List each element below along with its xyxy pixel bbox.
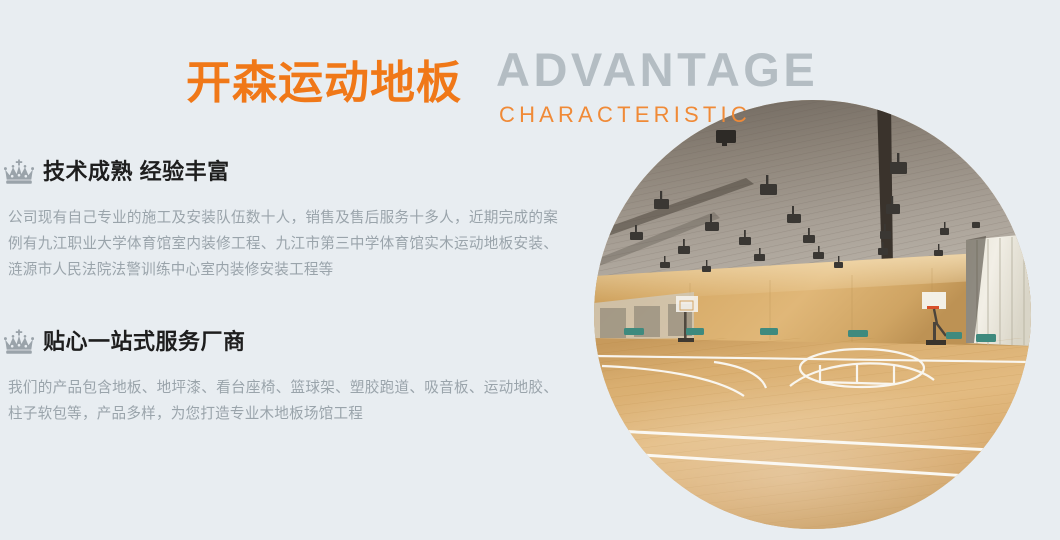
banner-header: ADVANTAGE CHARACTERISTIC 开森运动地板 (0, 22, 900, 117)
section-1-body: 公司现有自己专业的施工及安装队伍数十人，销售及售后服务十多人，近期完成的案例有九… (0, 205, 558, 283)
advantage-sections: 技术成熟 经验丰富 公司现有自己专业的施工及安装队伍数十人，销售及售后服务十多人… (0, 155, 575, 427)
section-2-title: 贴心一站式服务厂商 (43, 331, 246, 353)
indoor-basketball-court-photo (594, 100, 1031, 529)
advantage-section-2: 贴心一站式服务厂商 我们的产品包含地板、地坪漆、看台座椅、篮球架、塑胶跑道、吸音… (0, 325, 575, 427)
section-2-body: 我们的产品包含地板、地坪漆、看台座椅、篮球架、塑胶跑道、吸音板、运动地胶、柱子软… (0, 375, 558, 427)
section-1-title: 技术成熟 经验丰富 (43, 161, 230, 183)
advantage-banner: ADVANTAGE CHARACTERISTIC 开森运动地板 (0, 0, 1060, 540)
crown-icon (4, 159, 34, 185)
page-title: 开森运动地板 (186, 60, 462, 105)
subheadline-english: CHARACTERISTIC (499, 104, 751, 126)
crown-icon (4, 329, 34, 355)
headline-english: ADVANTAGE (496, 46, 818, 93)
section-2-heading-row: 贴心一站式服务厂商 (0, 325, 575, 359)
section-1-heading-row: 技术成熟 经验丰富 (0, 155, 575, 189)
advantage-section-1: 技术成熟 经验丰富 公司现有自己专业的施工及安装队伍数十人，销售及售后服务十多人… (0, 155, 575, 283)
